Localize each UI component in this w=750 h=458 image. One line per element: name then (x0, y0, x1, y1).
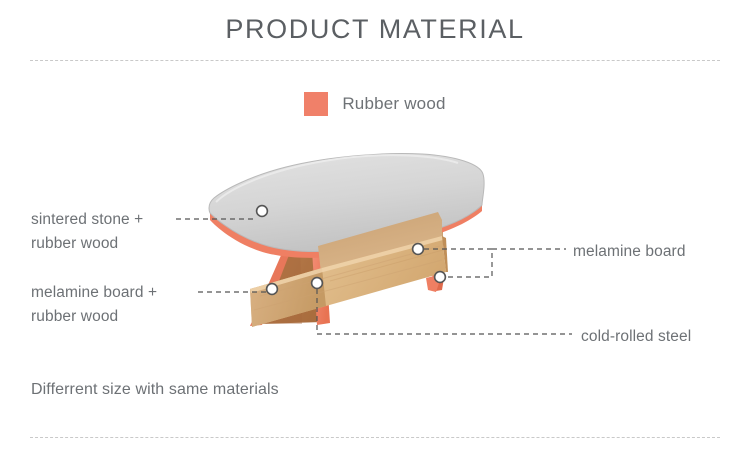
callout-melamine-board-left: melamine board + rubber wood (31, 281, 157, 329)
color-swatch-icon (304, 92, 328, 116)
marker-sintered-stone (257, 206, 268, 217)
marker-cold-rolled-steel (312, 278, 323, 289)
product-material-infographic: PRODUCT MATERIAL Rubber wood (0, 0, 750, 458)
divider-top (30, 60, 720, 61)
callout-cold-rolled-steel: cold-rolled steel (581, 325, 691, 349)
marker-melamine-right-upper (413, 244, 424, 255)
marker-melamine-right-lower (435, 272, 446, 283)
callout-melamine-board-right: melamine board (573, 240, 686, 264)
page-title: PRODUCT MATERIAL (0, 14, 750, 45)
legend: Rubber wood (0, 92, 750, 116)
legend-label: Rubber wood (342, 94, 445, 114)
coffee-table-illustration (190, 150, 520, 345)
footer-note: Differrent size with same materials (31, 381, 279, 399)
divider-bottom (30, 437, 720, 438)
callout-sintered-stone: sintered stone + rubber wood (31, 208, 143, 256)
marker-melamine-left (267, 284, 278, 295)
